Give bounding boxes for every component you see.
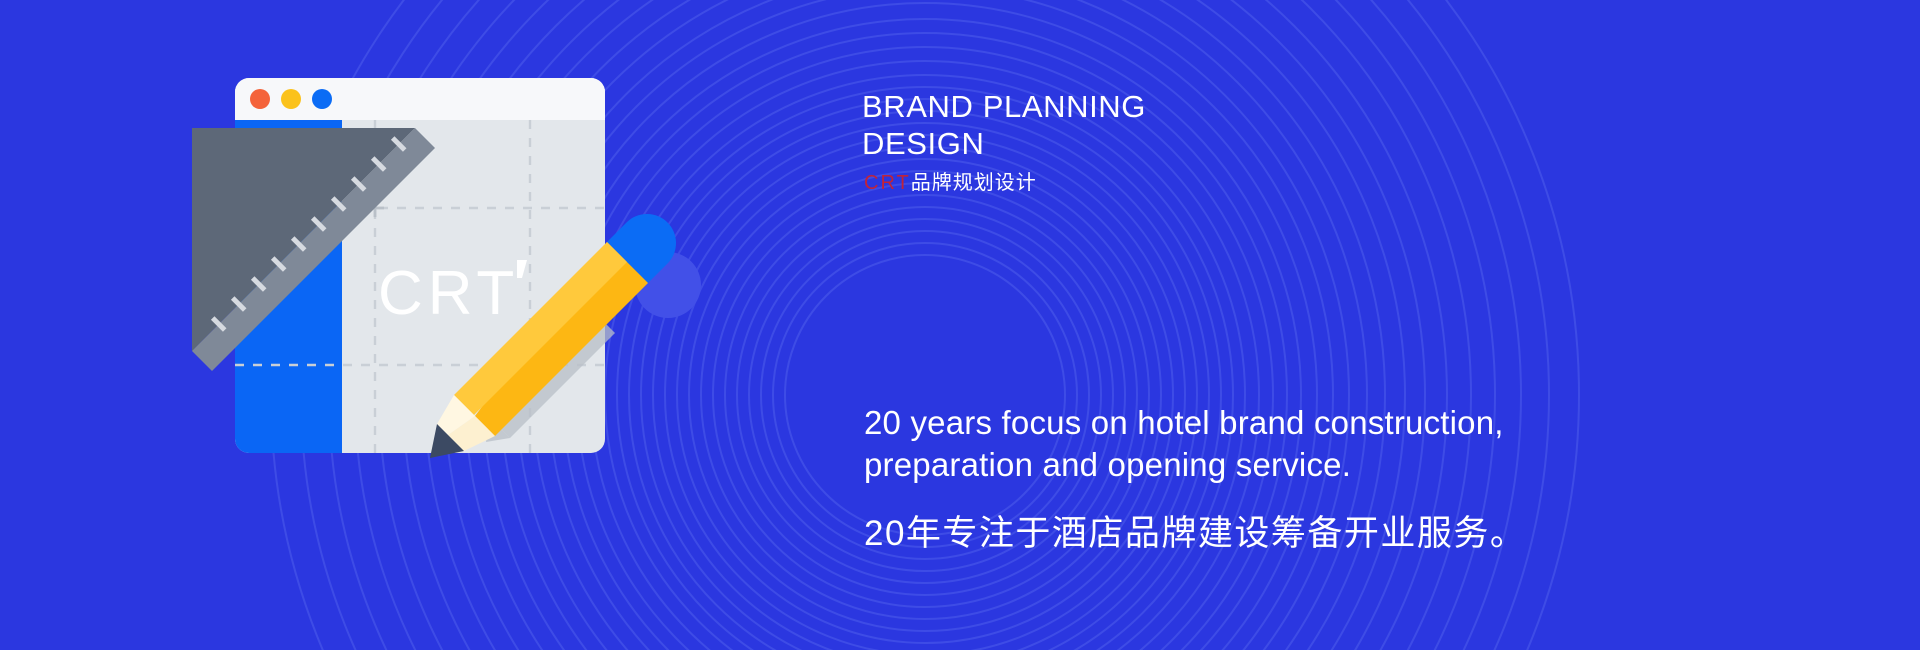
lead-paragraph-cn: 20年专注于酒店品牌建设筹备开业服务。 bbox=[864, 511, 1844, 557]
banner-copy: BRAND PLANNING DESIGN CRT品牌规划设计 20 years… bbox=[862, 0, 1912, 650]
svg-text:CRT: CRT bbox=[378, 259, 519, 328]
eyebrow-subtitle-cn-rest: 品牌规划设计 bbox=[911, 172, 1037, 194]
brand-design-illustration: CRT bbox=[190, 70, 690, 490]
crt-wordmark: CRT bbox=[378, 259, 527, 328]
window-dot-red bbox=[250, 89, 270, 109]
eyebrow-subtitle-cn: CRT品牌规划设计 bbox=[864, 170, 1037, 196]
eyebrow-title: BRAND PLANNING DESIGN bbox=[862, 88, 1422, 162]
brand-name-crt: CRT bbox=[864, 172, 911, 194]
window-dot-blue bbox=[312, 89, 332, 109]
lead-paragraph-en: 20 years focus on hotel brand constructi… bbox=[864, 402, 1844, 486]
brand-banner: CRT bbox=[0, 0, 1920, 650]
window-dot-yellow bbox=[281, 89, 301, 109]
window-dots bbox=[250, 89, 332, 109]
